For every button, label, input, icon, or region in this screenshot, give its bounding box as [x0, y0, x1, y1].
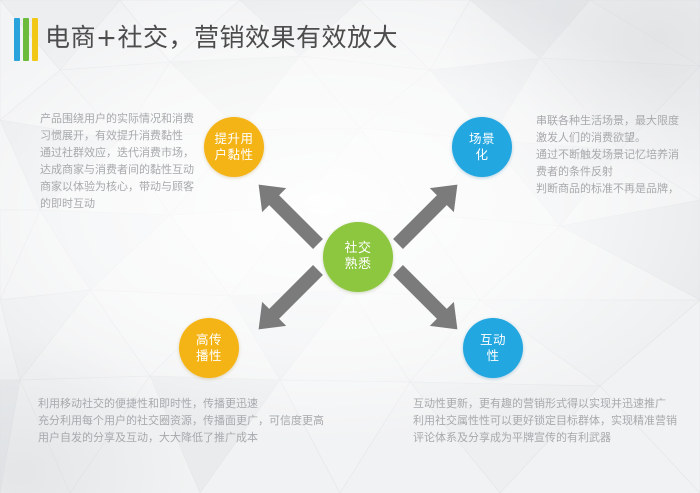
- node-spread-label: 高传 播性: [196, 332, 222, 364]
- node-interaction-label: 互动 性: [480, 332, 506, 364]
- node-retention[interactable]: 提升用 户黏性: [204, 117, 264, 177]
- arrow-down-right: [386, 258, 469, 341]
- slide-canvas: 电商+社交，营销效果有效放大 提升用 户黏性 场景 化: [0, 0, 700, 493]
- caption-top-right: 串联各种生活场景，最大限度 激发人们的消费欲望。 通过不断触发场景记忆培养消 费…: [536, 112, 679, 197]
- node-retention-label: 提升用 户黏性: [214, 131, 253, 163]
- node-center-social[interactable]: 社交 熟悉: [323, 222, 393, 292]
- node-scenario-label: 场景 化: [469, 131, 495, 163]
- node-center-label: 社交 熟悉: [344, 241, 371, 273]
- arrow-up-right: [386, 173, 469, 256]
- node-interaction[interactable]: 互动 性: [463, 318, 523, 378]
- node-spread[interactable]: 高传 播性: [179, 318, 239, 378]
- node-scenario[interactable]: 场景 化: [452, 117, 512, 177]
- caption-bottom-left: 利用移动社交的便捷性和即时性，传播更迅速 充分利用每个用户的社交圈资源，传播面更…: [38, 395, 324, 446]
- caption-bottom-right: 互动性更新，更有趣的营销形式得以实现并迅速推广 利用社交属性性可以更好锁定目标群…: [413, 395, 677, 446]
- caption-top-left: 产品围绕用户的实际情况和消费 习惯展开，有效提升消费黏性 通过社群效应，迭代消费…: [40, 110, 194, 212]
- arrow-up-left: [247, 173, 330, 256]
- arrow-down-left: [247, 258, 330, 341]
